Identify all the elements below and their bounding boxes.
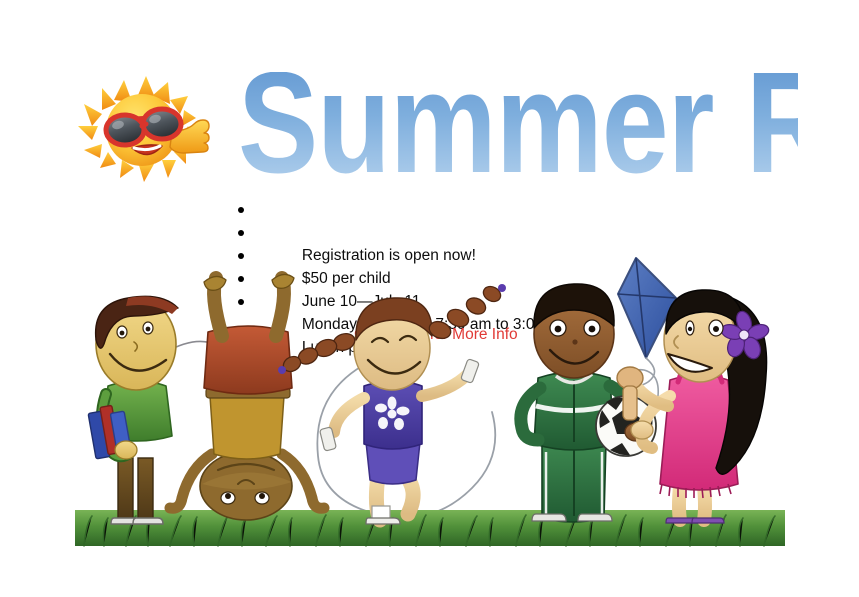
bullet-dot-icon [238, 207, 244, 213]
child-handstand-icon [170, 274, 324, 520]
sun-with-sunglasses-icon [72, 76, 220, 184]
page-title: Summer Rec [238, 72, 798, 194]
summer-rec-flyer: Summer Rec Registration is open now! $50… [0, 0, 859, 597]
children-playing-illustration [70, 236, 790, 548]
boy-with-books-icon [88, 296, 178, 524]
list-item: Registration is open now! [232, 198, 652, 221]
title-label: Summer Rec [238, 72, 798, 194]
